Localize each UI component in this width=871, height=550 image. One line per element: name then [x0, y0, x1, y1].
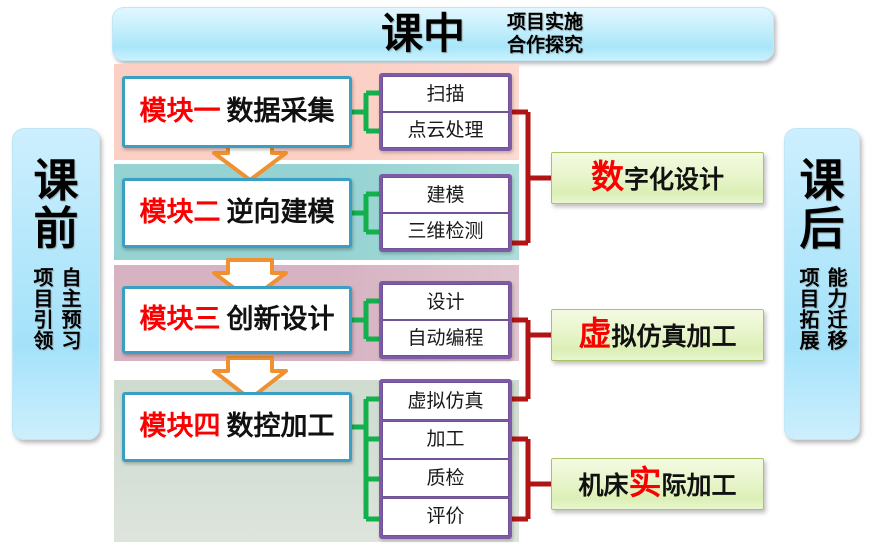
module-box-3[interactable]: 模块三创新设计: [122, 286, 352, 354]
outcome-prefix-3: 机床: [578, 471, 628, 500]
subitem-group-1: 扫描 点云处理: [379, 73, 512, 151]
module-label-2: 模块二逆向建模: [140, 198, 335, 228]
subitem-4-2[interactable]: 加工: [382, 421, 509, 459]
module-name-2: 逆向建模: [227, 197, 335, 228]
subitem-1-1[interactable]: 扫描: [382, 76, 509, 112]
subitem-label-4-2: 加工: [426, 429, 464, 450]
outcome-label-2: 虚拟仿真加工: [578, 320, 736, 351]
module-number-3: 模块三: [140, 304, 221, 335]
outcome-label-3: 机床实际加工: [578, 469, 736, 500]
subitem-3-1[interactable]: 设计: [382, 284, 509, 320]
left-panel-sub-right: 自主预习: [59, 267, 81, 351]
module-number-2: 模块二: [140, 197, 221, 228]
left-panel-subtitles: 自主预习 项目引领: [31, 267, 81, 351]
outcome-label-1: 数字化设计: [591, 163, 724, 194]
left-panel-title: 课前: [13, 157, 99, 253]
subitem-2-2[interactable]: 三维检测: [382, 213, 509, 249]
right-panel-sub-right: 能力迁移: [825, 267, 847, 351]
outcome-rest-2: 拟仿真加工: [611, 322, 736, 351]
right-panel-sub-left: 项目拓展: [797, 267, 819, 351]
module-box-2[interactable]: 模块二逆向建模: [122, 178, 352, 248]
left-panel-sub-left: 项目引领: [31, 267, 53, 351]
subitem-4-1[interactable]: 虚拟仿真: [382, 382, 509, 420]
module-label-3: 模块三创新设计: [140, 305, 335, 335]
subitem-group-4: 虚拟仿真 加工 质检 评价: [379, 379, 512, 539]
subitem-1-2[interactable]: 点云处理: [382, 112, 509, 148]
top-banner-subtitle-line1: 项目实施: [507, 11, 583, 34]
module-label-1: 模块一数据采集: [140, 97, 335, 127]
outcome-box-1[interactable]: 数字化设计: [551, 152, 764, 204]
subitem-label-4-3: 质检: [426, 468, 464, 489]
subitem-group-3: 设计 自动编程: [379, 281, 512, 359]
subitem-label-1-1: 扫描: [426, 84, 464, 105]
right-panel-subtitles: 能力迁移 项目拓展: [797, 267, 847, 351]
module-box-4[interactable]: 模块四数控加工: [122, 392, 352, 462]
subitem-label-2-1: 建模: [426, 185, 464, 206]
left-panel-kezian: 课前 自主预习 项目引领: [12, 128, 100, 440]
subitem-4-3[interactable]: 质检: [382, 459, 509, 497]
subitem-4-4[interactable]: 评价: [382, 498, 509, 536]
outcome-highlight-2: 虚: [578, 314, 611, 353]
top-banner-subtitle: 项目实施 合作探究: [507, 11, 583, 57]
diagram-canvas: 课前 自主预习 项目引领 课后 能力迁移 项目拓展 课中 项目实施 合作探究: [0, 0, 871, 550]
subitem-label-4-1: 虚拟仿真: [407, 391, 483, 412]
subitem-label-3-2: 自动编程: [407, 328, 483, 349]
top-banner-subtitle-line2: 合作探究: [507, 34, 583, 57]
subitem-3-2[interactable]: 自动编程: [382, 320, 509, 356]
top-banner-kezhong: 课中 项目实施 合作探究: [112, 7, 774, 61]
outcome-box-3[interactable]: 机床实际加工: [551, 458, 764, 510]
outcome-rest-1: 字化设计: [624, 165, 724, 194]
outcome-highlight-1: 数: [591, 157, 624, 196]
module-name-4: 数控加工: [227, 411, 335, 442]
subitem-group-2: 建模 三维检测: [379, 174, 512, 252]
right-panel-kehou: 课后 能力迁移 项目拓展: [784, 128, 860, 440]
module-name-1: 数据采集: [227, 96, 335, 127]
module-number-1: 模块一: [140, 96, 221, 127]
subitem-label-3-1: 设计: [426, 292, 464, 313]
outcome-highlight-3: 实: [629, 463, 662, 502]
right-panel-title: 课后: [785, 157, 859, 253]
module-box-1[interactable]: 模块一数据采集: [122, 76, 352, 148]
top-banner-title: 课中: [381, 12, 465, 56]
module-number-4: 模块四: [140, 411, 221, 442]
outcome-rest-3: 际加工: [662, 471, 737, 500]
module-label-4: 模块四数控加工: [140, 412, 335, 442]
outcome-box-2[interactable]: 虚拟仿真加工: [551, 309, 764, 361]
module-name-3: 创新设计: [227, 304, 335, 335]
subitem-label-2-2: 三维检测: [407, 221, 483, 242]
subitem-2-1[interactable]: 建模: [382, 177, 509, 213]
subitem-label-1-2: 点云处理: [407, 120, 483, 141]
subitem-label-4-4: 评价: [426, 506, 464, 527]
